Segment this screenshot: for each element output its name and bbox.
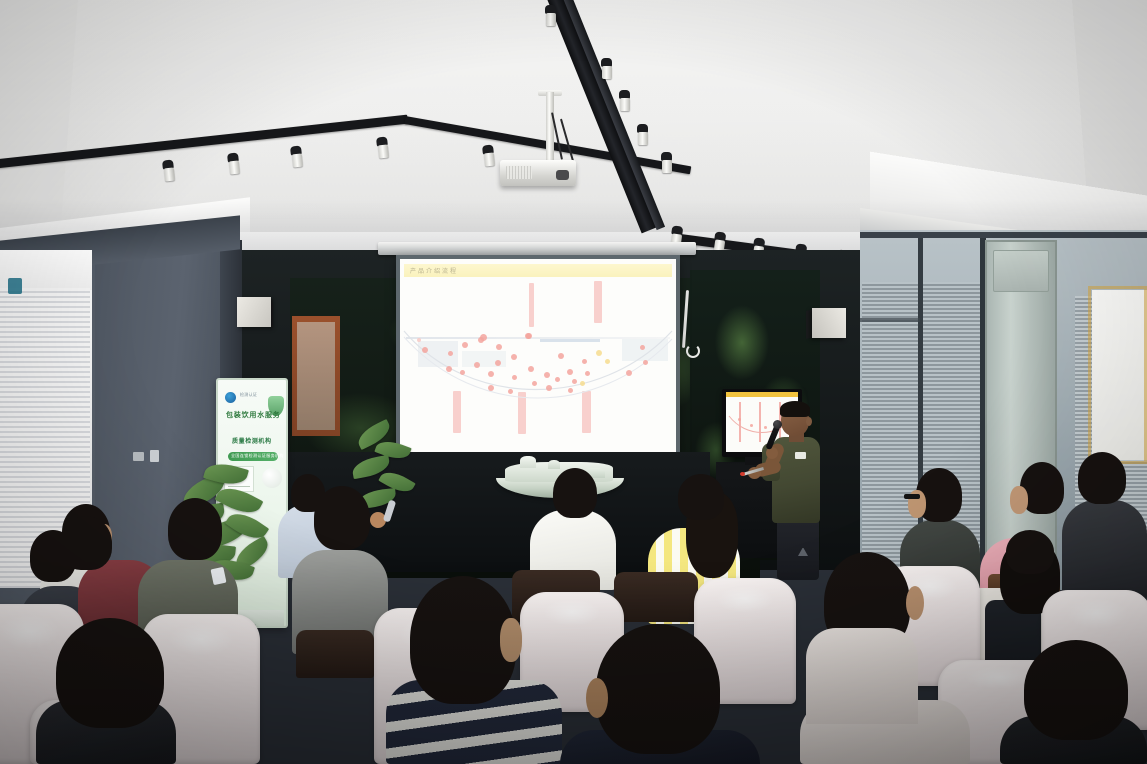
spotlight-icon	[619, 90, 630, 110]
projection-screen-casing	[378, 242, 696, 255]
attendee-head	[1024, 640, 1128, 740]
spotlight-icon	[545, 5, 556, 25]
slide-node	[488, 371, 494, 377]
wooden-door-glass	[297, 322, 335, 430]
attendee-face	[500, 618, 522, 662]
slide-node	[446, 366, 452, 372]
partition-header-rail	[860, 232, 1147, 238]
slide-node	[480, 334, 487, 341]
partition-transom-rail	[860, 318, 920, 322]
slide-node	[417, 338, 421, 342]
jade-sculpture-peak	[548, 460, 560, 469]
spotlight-icon	[637, 124, 648, 144]
hanging-cable-loop	[686, 344, 700, 358]
slide-node	[448, 351, 453, 356]
slide-node	[495, 360, 501, 366]
slide-node	[640, 345, 645, 350]
slide-node-alt	[596, 350, 602, 356]
attendee-ear	[906, 586, 924, 620]
slide-node	[532, 381, 537, 386]
slide-node	[544, 372, 550, 378]
slide-node	[462, 342, 468, 348]
slide-node-alt	[605, 359, 610, 364]
presenter-hair	[780, 401, 810, 417]
banner-pill-text: 全国连锁检测认证服务机构	[231, 453, 284, 459]
slide-node	[643, 360, 648, 365]
projection-screen: 产品介绍流程	[400, 259, 676, 457]
attendee-head	[1078, 452, 1126, 504]
conference-room-photo: 产品介绍流程	[0, 0, 1147, 764]
spotlight-icon	[661, 152, 672, 172]
presenter-legs	[777, 518, 819, 580]
attendee-head	[553, 468, 597, 518]
presenter-ear	[806, 417, 812, 426]
slide-node	[512, 375, 517, 380]
slide-network-arc	[400, 259, 676, 457]
slide-node	[525, 333, 531, 339]
slide-node	[626, 370, 632, 376]
slide-node	[555, 377, 560, 382]
attendee-head	[1006, 530, 1054, 574]
slide-node	[511, 354, 517, 360]
slide-node	[508, 389, 513, 394]
power-outlet-icon	[133, 452, 144, 461]
attendee-ear	[586, 678, 608, 718]
slide-node	[546, 385, 552, 391]
attendee-body	[806, 628, 918, 724]
slide-node	[582, 359, 587, 364]
spotlight-icon	[482, 144, 495, 165]
slide-node	[567, 369, 573, 375]
projection-screen-end-cap	[672, 244, 694, 253]
spotlight-icon	[227, 152, 240, 173]
slide-node	[572, 379, 577, 384]
slide-node	[558, 353, 564, 359]
attendee-body	[1062, 500, 1147, 600]
banner-logo-text: 检测认证	[240, 392, 257, 398]
laser-pointer-tip	[740, 472, 745, 476]
slide-node-alt	[580, 381, 585, 386]
attendee-head	[596, 624, 720, 754]
slide-node	[422, 347, 428, 353]
slide-node	[496, 344, 502, 350]
spotlight-icon	[162, 159, 175, 180]
eyeglasses-icon	[904, 494, 920, 499]
slide-node	[460, 370, 465, 375]
wall-speaker-right	[812, 308, 846, 338]
attendee-head	[60, 516, 112, 570]
chair-dark[interactable]	[296, 630, 374, 678]
attendee-head	[56, 618, 164, 728]
presenter-shirt-logo	[795, 452, 806, 459]
spotlight-icon	[601, 58, 612, 78]
wall-speaker-left	[237, 297, 271, 327]
projector-vent	[506, 166, 532, 179]
banner-subhead: 质量检测机构	[232, 436, 272, 445]
tv-node	[738, 418, 741, 421]
chair-dark[interactable]	[614, 572, 698, 622]
slide-node	[585, 371, 590, 376]
slide-node	[488, 385, 494, 391]
right-whiteboard-frame	[1088, 286, 1147, 464]
jade-sculpture-peak	[520, 456, 536, 468]
attendee-head	[168, 498, 222, 560]
projector-lens	[556, 170, 569, 180]
microphone-head	[773, 420, 782, 429]
tv-node	[764, 426, 767, 429]
wall-sign-icon	[8, 278, 22, 294]
projector-mount-pole	[546, 92, 554, 160]
slide-node	[528, 366, 534, 372]
slide-node	[474, 362, 480, 368]
banner-logo-icon	[225, 392, 236, 403]
light-switch-icon	[150, 450, 159, 462]
attendee-head	[314, 486, 370, 550]
door-transom-panel	[993, 250, 1049, 292]
slide-node	[568, 388, 573, 393]
attendee-face	[1010, 486, 1028, 514]
banner-headline: 包装饮用水服务	[226, 410, 281, 420]
spotlight-icon	[290, 145, 303, 166]
spotlight-icon	[376, 136, 389, 157]
attendee-head	[678, 474, 724, 520]
tv-node	[750, 424, 753, 427]
